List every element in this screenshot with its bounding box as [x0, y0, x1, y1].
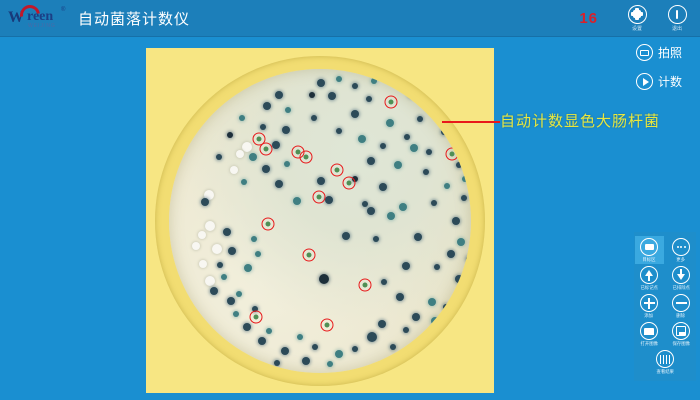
colony [311, 115, 317, 121]
tool-excluded-points[interactable]: 已排除点 [667, 264, 696, 292]
colony [274, 360, 280, 366]
play-icon [636, 73, 653, 90]
marker-center-dot [363, 282, 368, 287]
capture-button[interactable]: 拍照 [636, 44, 700, 61]
gear-icon [628, 5, 647, 24]
colony [404, 134, 410, 140]
colony [390, 344, 396, 350]
colony [255, 251, 261, 257]
tool-label: 更多 [677, 257, 686, 263]
colony [205, 221, 215, 231]
colony [284, 161, 290, 167]
colony [431, 317, 439, 325]
brand-logo: W reen ® WEIJING [6, 3, 68, 33]
colony [351, 110, 359, 118]
colony [236, 150, 244, 158]
chart-icon [656, 350, 674, 368]
camera-icon [636, 44, 653, 61]
colony [366, 96, 372, 102]
colony [335, 350, 343, 358]
colony [412, 313, 420, 321]
colony [275, 91, 283, 99]
colony [302, 357, 310, 365]
tool-target-area[interactable]: 目标区 [635, 236, 664, 264]
frame-icon [640, 238, 658, 256]
tool-label: 已排除点 [672, 285, 689, 291]
colony [309, 92, 315, 98]
colony-count-readout: 16 [579, 10, 598, 27]
colony [456, 162, 462, 168]
colony [367, 207, 375, 215]
counted-colony-marker[interactable] [262, 217, 275, 230]
agar-surface [169, 69, 471, 373]
count-button[interactable]: 计数 [636, 73, 700, 90]
colony [233, 311, 239, 317]
tool-row: 查看结果 [634, 348, 696, 376]
counted-colony-marker[interactable] [250, 310, 263, 323]
tool-more[interactable]: 更多 [667, 236, 696, 264]
colony [358, 135, 366, 143]
marker-center-dot [254, 314, 259, 319]
colony [352, 346, 358, 352]
colony [427, 103, 435, 111]
colony [251, 236, 257, 242]
petri-dish [155, 56, 485, 386]
colony [434, 264, 440, 270]
tool-delete[interactable]: 删除 [667, 292, 696, 320]
colony [342, 232, 350, 240]
plus-icon [640, 294, 658, 312]
tool-label: 保存图像 [672, 341, 689, 347]
tool-panel: 目标区 更多 已标记点 已排除点 添加 删除 打开图像 [634, 232, 696, 381]
colony [216, 154, 222, 160]
tool-open-image[interactable]: 打开图像 [635, 320, 664, 348]
annotation-leader-line [442, 121, 500, 123]
colony [410, 144, 418, 152]
colony [199, 260, 207, 268]
tool-row: 目标区 更多 [634, 236, 696, 264]
colony [426, 149, 432, 155]
marker-center-dot [317, 194, 322, 199]
colony [212, 244, 222, 254]
counted-colony-marker[interactable] [331, 163, 344, 176]
tool-label: 目标区 [642, 257, 655, 263]
capture-button-label: 拍照 [658, 44, 682, 61]
colony [386, 119, 394, 127]
colony [281, 347, 289, 355]
colony [244, 264, 252, 272]
colony [260, 124, 266, 130]
tool-label: 查看结果 [656, 369, 673, 375]
page-title: 自动菌落计数仪 [78, 8, 190, 29]
colony [441, 129, 447, 135]
colony [325, 196, 333, 204]
colony [275, 180, 283, 188]
colony [336, 128, 342, 134]
colony [317, 177, 325, 185]
colony [262, 165, 270, 173]
colony [217, 262, 223, 268]
counted-colony-marker[interactable] [343, 176, 356, 189]
colony [381, 279, 387, 285]
counted-colony-marker[interactable] [303, 248, 316, 261]
tool-row: 添加 删除 [634, 292, 696, 320]
tool-label: 添加 [645, 313, 654, 319]
logo-tagline: WEIJING [28, 23, 56, 29]
tool-label: 删除 [677, 313, 686, 319]
save-icon [672, 322, 690, 340]
colony [371, 78, 377, 84]
colony [243, 323, 251, 331]
action-buttons: 拍照 计数 [636, 44, 700, 102]
colony [272, 141, 280, 149]
colony [352, 83, 358, 89]
colony [431, 200, 437, 206]
marker-center-dot [304, 154, 309, 159]
marker-center-dot [325, 322, 330, 327]
colony [367, 332, 377, 342]
colony [408, 90, 416, 98]
colony [285, 107, 291, 113]
colony [414, 233, 422, 241]
counted-colony-marker[interactable] [321, 318, 334, 331]
marker-center-dot [307, 252, 312, 257]
settings-button-label: 设置 [632, 25, 642, 32]
counted-colony-marker[interactable] [466, 284, 472, 297]
arrow-down-icon [672, 266, 690, 284]
colony [236, 291, 242, 297]
exit-button[interactable]: 退出 [662, 5, 692, 32]
power-icon [668, 5, 687, 24]
counted-colony-marker[interactable] [260, 142, 273, 155]
colony [192, 242, 200, 250]
marker-center-dot [257, 136, 262, 141]
header-controls: 16 设置 退出 [579, 5, 692, 32]
minus-icon [672, 294, 690, 312]
image-viewer[interactable] [146, 48, 494, 393]
colony [399, 203, 407, 211]
tool-label: 已标记点 [640, 285, 657, 291]
colony [227, 132, 233, 138]
colony [403, 327, 409, 333]
colony [263, 102, 271, 110]
arrow-up-icon [640, 266, 658, 284]
counted-colony-marker[interactable] [385, 95, 398, 108]
colony [282, 126, 290, 134]
colony [319, 274, 329, 284]
tool-view-results[interactable]: 查看结果 [651, 348, 680, 376]
colony [327, 361, 333, 367]
colony [241, 179, 247, 185]
colony [462, 176, 468, 182]
marker-center-dot [389, 99, 394, 104]
colony [297, 334, 303, 340]
colony [380, 143, 386, 149]
colony [444, 183, 450, 189]
colony [428, 298, 436, 306]
colony [223, 228, 231, 236]
colony [336, 76, 342, 82]
colony [227, 297, 235, 305]
colony [379, 183, 387, 191]
tool-row: 已标记点 已排除点 [634, 264, 696, 292]
colony [455, 275, 463, 283]
tool-row: 打开图像 保存图像 [634, 320, 696, 348]
colony [293, 197, 301, 205]
ellipsis-icon [672, 238, 690, 256]
colony [387, 212, 395, 220]
colony [443, 304, 449, 310]
colony [205, 276, 215, 286]
colony [362, 201, 368, 207]
colony [447, 250, 455, 258]
colony [367, 157, 375, 165]
colony [328, 92, 336, 100]
colony [242, 142, 252, 152]
colony [423, 169, 429, 175]
tool-save-image[interactable]: 保存图像 [667, 320, 696, 348]
colony [461, 195, 467, 201]
tool-add[interactable]: 添加 [635, 292, 664, 320]
colony [417, 116, 423, 122]
marker-center-dot [266, 221, 271, 226]
colony [201, 198, 209, 206]
marker-center-dot [335, 167, 340, 172]
counted-colony-marker[interactable] [300, 150, 313, 163]
colony [266, 328, 272, 334]
counted-colony-marker[interactable] [359, 278, 372, 291]
colony [378, 320, 386, 328]
colony [228, 247, 236, 255]
colony [402, 262, 410, 270]
colony [466, 256, 471, 262]
colony [239, 115, 245, 121]
app-header: W reen ® WEIJING 自动菌落计数仪 16 设置 退出 [0, 0, 700, 37]
logo-registered-mark: ® [61, 7, 65, 13]
settings-button[interactable]: 设置 [622, 5, 652, 32]
tool-label: 打开图像 [640, 341, 657, 347]
colony [317, 79, 325, 87]
colony [396, 293, 404, 301]
colony [230, 166, 238, 174]
colony [452, 217, 460, 225]
annotation-label: 自动计数显色大肠杆菌 [500, 110, 660, 131]
colony [457, 238, 465, 246]
marker-center-dot [470, 288, 472, 293]
marker-center-dot [347, 180, 352, 185]
colony [394, 161, 402, 169]
colony [373, 236, 379, 242]
tool-marked-points[interactable]: 已标记点 [635, 264, 664, 292]
colony [221, 274, 227, 280]
colony [312, 344, 318, 350]
counted-colony-marker[interactable] [446, 147, 459, 160]
colony [258, 337, 266, 345]
folder-icon [640, 322, 658, 340]
marker-center-dot [450, 151, 455, 156]
count-button-label: 计数 [658, 73, 682, 90]
colony [210, 287, 218, 295]
counted-colony-marker[interactable] [313, 190, 326, 203]
colony [249, 153, 257, 161]
exit-button-label: 退出 [672, 25, 682, 32]
colony [198, 231, 206, 239]
marker-center-dot [264, 146, 269, 151]
